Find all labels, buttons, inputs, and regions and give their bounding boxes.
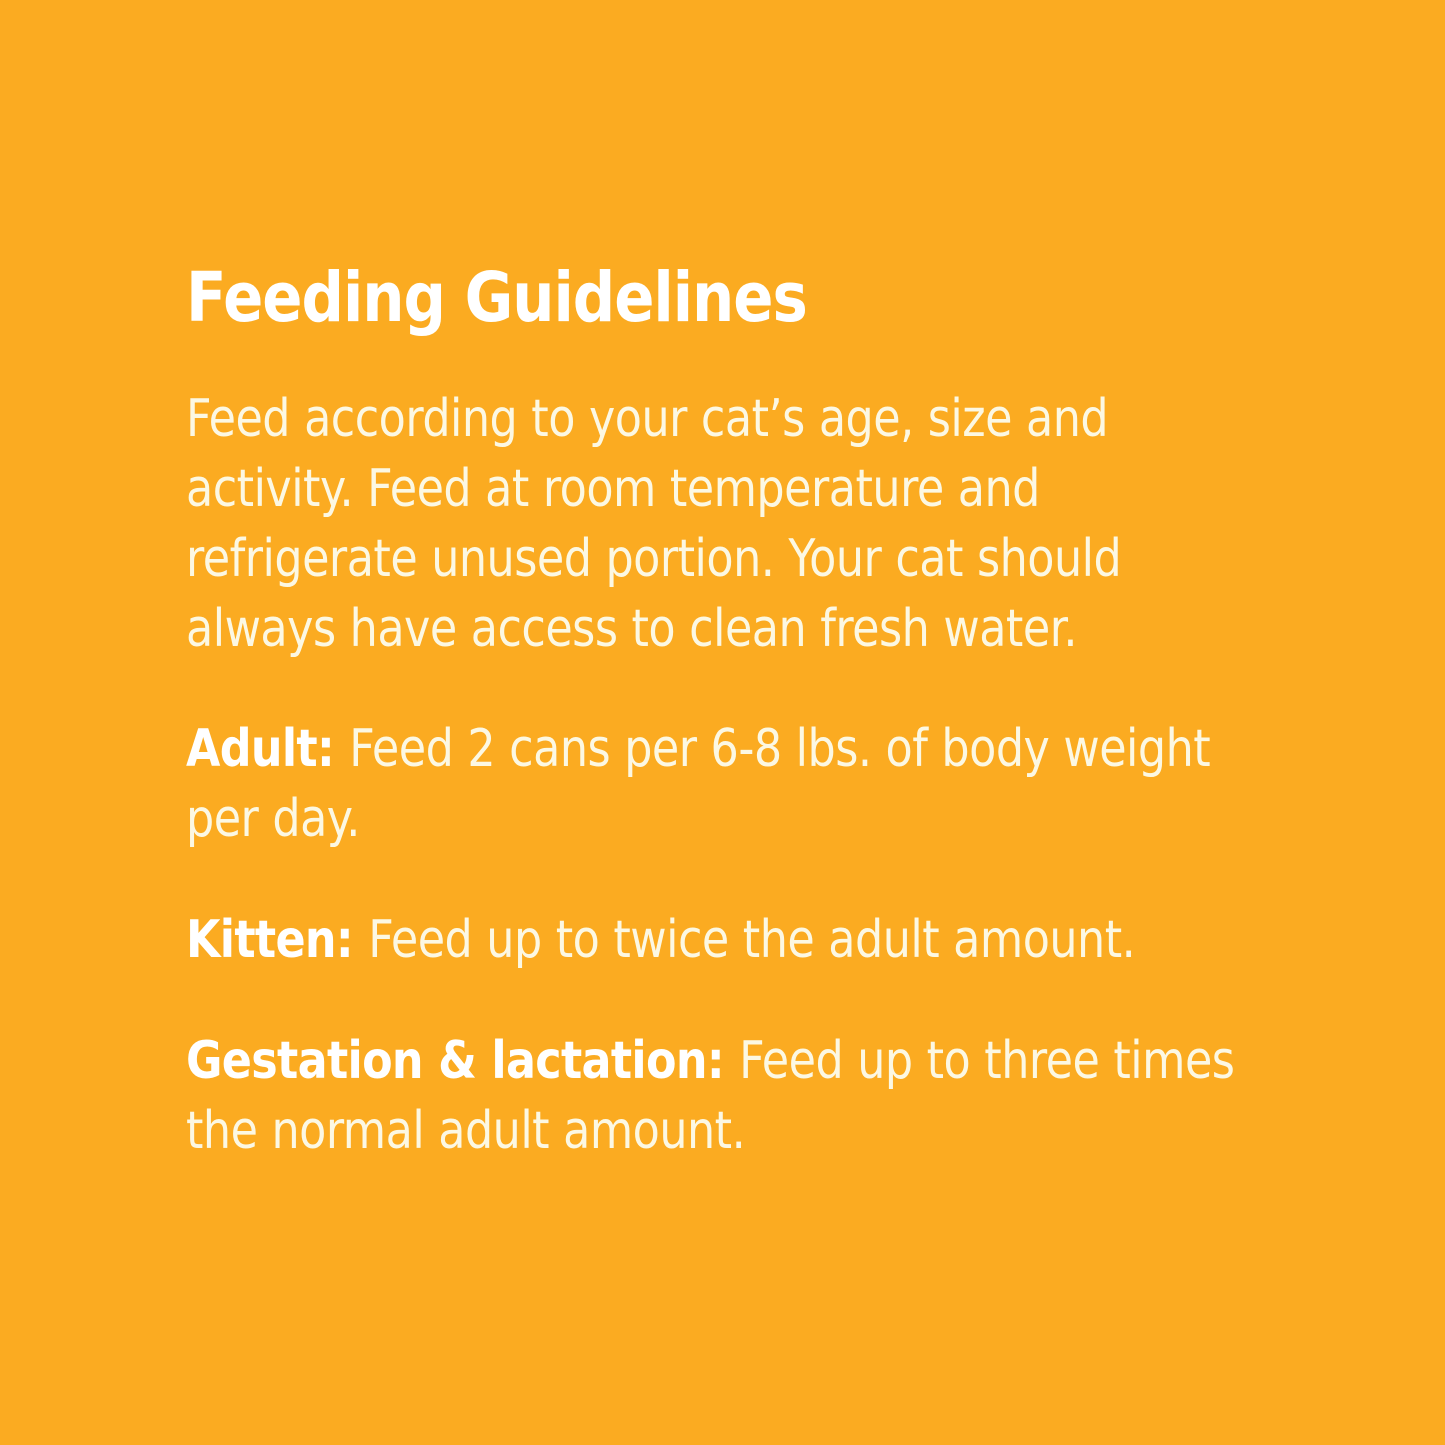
guideline-kitten-text: Feed up to twice the adult amount. (368, 910, 1135, 970)
intro-paragraph: Feed according to your cat’s age, size a… (186, 384, 1274, 664)
guideline-adult-label: Adult: (186, 719, 349, 779)
content-column: Feeding Guidelines Feed according to you… (186, 258, 1276, 1166)
guideline-kitten: Kitten: Feed up to twice the adult amoun… (186, 905, 1274, 975)
guideline-gestation-lactation-label: Gestation & lactation: (186, 1031, 739, 1091)
guideline-adult: Adult: Feed 2 cans per 6-8 lbs. of body … (186, 714, 1274, 854)
guideline-kitten-label: Kitten: (186, 910, 368, 970)
page-title: Feeding Guidelines (186, 258, 1123, 338)
feeding-guidelines-panel: Feeding Guidelines Feed according to you… (0, 0, 1445, 1445)
guideline-gestation-lactation: Gestation & lactation: Feed up to three … (186, 1026, 1274, 1166)
